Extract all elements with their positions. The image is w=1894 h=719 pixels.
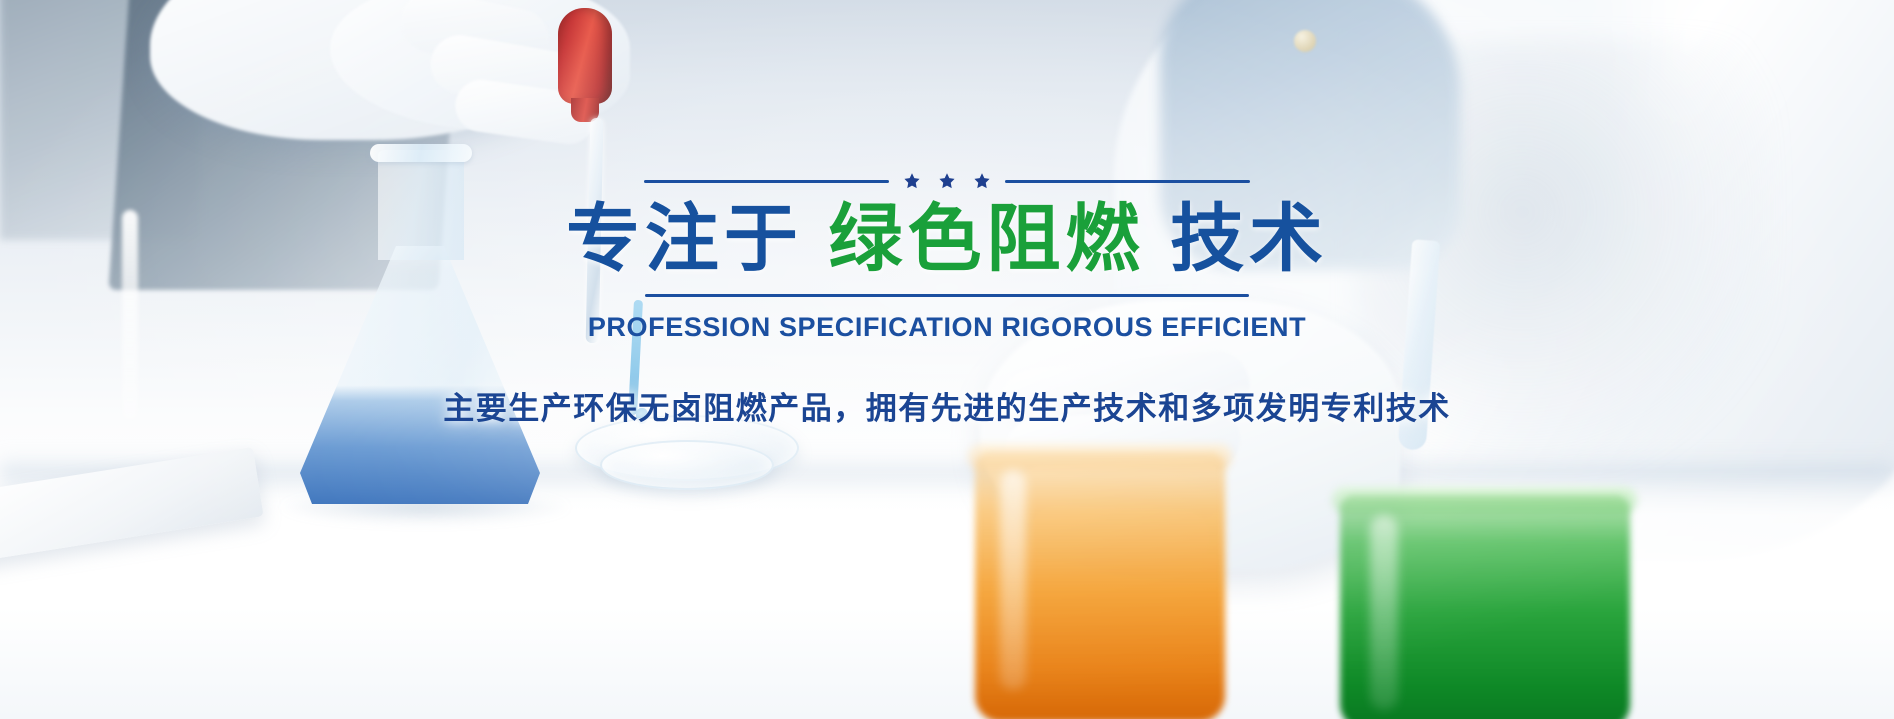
flask-highlight [122, 210, 138, 420]
lab-background-photo [0, 0, 1894, 719]
green-beaker-highlight [1370, 515, 1398, 710]
erlenmeyer-flask [300, 150, 540, 505]
flask-neck [378, 150, 464, 260]
shirt-button [1294, 30, 1316, 52]
flask-lip [370, 144, 472, 162]
pipette-bulb [558, 8, 612, 104]
hero-banner: 专注于 绿色阻燃 技术 PROFESSION SPECIFICATION RIG… [0, 0, 1894, 719]
flask-blue-liquid [300, 246, 540, 504]
petri-dish [600, 440, 774, 490]
orange-beaker-highlight [1000, 470, 1026, 690]
